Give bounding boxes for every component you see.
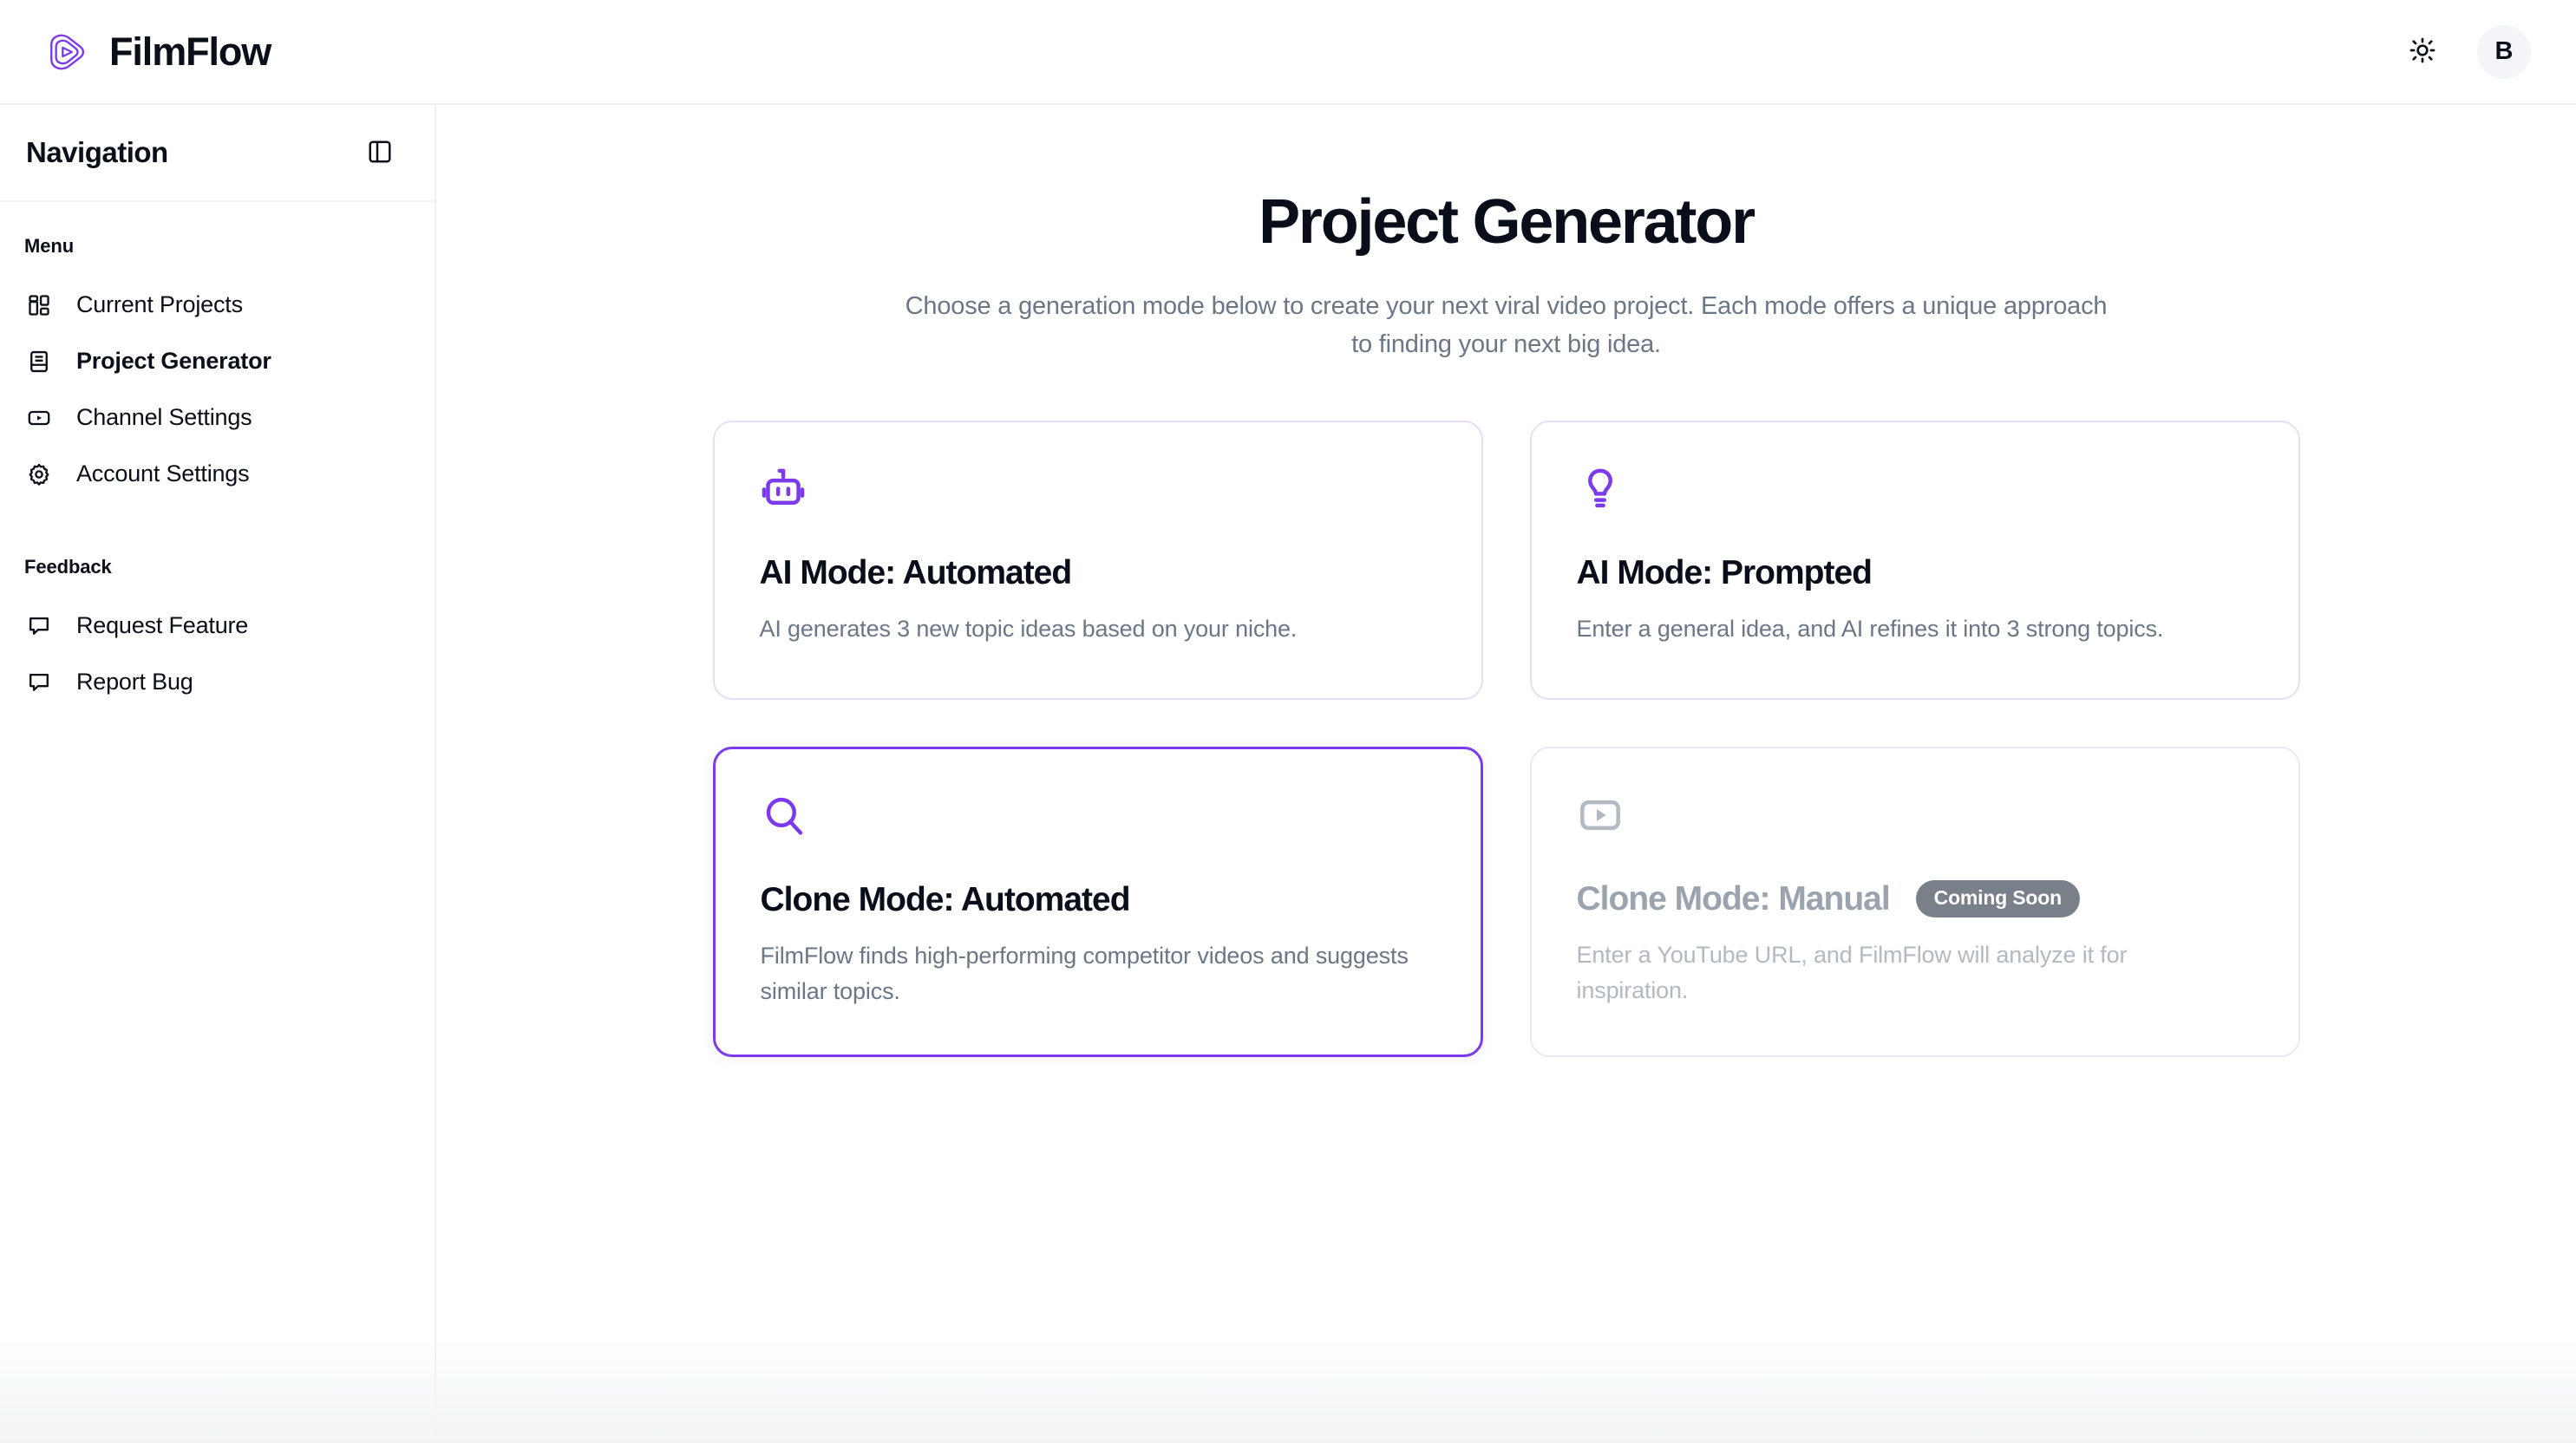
sidebar-item-channel-settings[interactable]: Channel Settings	[0, 389, 435, 446]
card-title-row: AI Mode: Prompted	[1577, 554, 2253, 592]
sidebar-title: Navigation	[26, 136, 168, 169]
mode-card-clone-automated[interactable]: Clone Mode: Automated FilmFlow finds hig…	[713, 747, 1483, 1057]
sidebar: Navigation Menu	[0, 105, 436, 1443]
sidebar-item-label: Project Generator	[76, 348, 271, 375]
nav-group-label-feedback: Feedback	[0, 556, 435, 578]
mode-card-ai-prompted[interactable]: AI Mode: Prompted Enter a general idea, …	[1530, 421, 2300, 700]
card-title-row: AI Mode: Automated	[760, 554, 1436, 592]
sidebar-item-label: Report Bug	[76, 669, 193, 695]
sidebar-item-request-feature[interactable]: Request Feature	[0, 597, 435, 654]
panel-left-icon	[367, 139, 393, 167]
filmflow-play-logo-icon	[42, 29, 88, 75]
app-root: FilmFlow B Navigation	[0, 0, 2576, 1443]
card-title-row: Clone Mode: Manual Coming Soon	[1577, 880, 2253, 918]
sun-icon-theme-toggle-button[interactable]	[2401, 30, 2444, 74]
panel-left-icon-collapse-button[interactable]	[358, 131, 402, 174]
layout-grid-icon	[24, 291, 54, 320]
brand-logo-group[interactable]: FilmFlow	[42, 29, 271, 75]
card-title: AI Mode: Automated	[760, 554, 1072, 592]
sidebar-nav-list: Menu Current Projects	[0, 202, 435, 1443]
page-subtitle: Choose a generation mode below to create…	[899, 287, 2114, 363]
bot-icon	[760, 464, 1436, 514]
sidebar-item-label: Channel Settings	[76, 404, 252, 431]
main-content: Project Generator Choose a generation mo…	[436, 105, 2576, 1443]
topbar-actions: B	[2401, 25, 2531, 79]
lightbulb-icon	[1577, 464, 2253, 514]
search-icon	[761, 791, 1435, 841]
sun-icon	[2409, 36, 2436, 67]
card-title: AI Mode: Prompted	[1577, 554, 1873, 592]
avatar-initial: B	[2495, 37, 2514, 66]
top-header-bar: FilmFlow B	[0, 0, 2576, 105]
mode-card-clone-manual: Clone Mode: Manual Coming Soon Enter a Y…	[1530, 747, 2300, 1057]
brand-name: FilmFlow	[109, 32, 271, 71]
generator-panel: Project Generator Choose a generation mo…	[436, 105, 2576, 1057]
gear-icon	[24, 460, 54, 489]
card-description: FilmFlow finds high-performing competito…	[761, 938, 1420, 1009]
mode-cards-grid: AI Mode: Automated AI generates 3 new to…	[713, 421, 2300, 1057]
message-square-icon	[24, 611, 54, 641]
youtube-play-icon	[1577, 790, 2253, 840]
document-text-icon	[24, 347, 54, 376]
sidebar-item-label: Request Feature	[76, 612, 248, 639]
page-title: Project Generator	[1259, 190, 1754, 256]
sidebar-item-label: Account Settings	[76, 460, 249, 487]
mode-card-ai-automated[interactable]: AI Mode: Automated AI generates 3 new to…	[713, 421, 1483, 700]
card-description: AI generates 3 new topic ideas based on …	[760, 611, 1419, 647]
sidebar-item-account-settings[interactable]: Account Settings	[0, 446, 435, 502]
card-description: Enter a general idea, and AI refines it …	[1577, 611, 2236, 647]
body-split: Navigation Menu	[0, 105, 2576, 1443]
status-badge-coming-soon: Coming Soon	[1916, 880, 2080, 917]
card-description: Enter a YouTube URL, and FilmFlow will a…	[1577, 937, 2236, 1009]
youtube-play-icon	[24, 403, 54, 433]
sidebar-item-label: Current Projects	[76, 291, 243, 318]
nav-group-label-menu: Menu	[0, 235, 435, 258]
card-title: Clone Mode: Automated	[761, 881, 1130, 919]
message-square-icon	[24, 668, 54, 697]
avatar[interactable]: B	[2477, 25, 2531, 79]
sidebar-item-current-projects[interactable]: Current Projects	[0, 277, 435, 333]
card-title: Clone Mode: Manual	[1577, 880, 1890, 918]
sidebar-item-report-bug[interactable]: Report Bug	[0, 654, 435, 710]
card-title-row: Clone Mode: Automated	[761, 881, 1435, 919]
nav-group-spacer	[0, 502, 435, 556]
sidebar-header: Navigation	[0, 105, 435, 202]
sidebar-item-project-generator[interactable]: Project Generator	[0, 333, 435, 389]
